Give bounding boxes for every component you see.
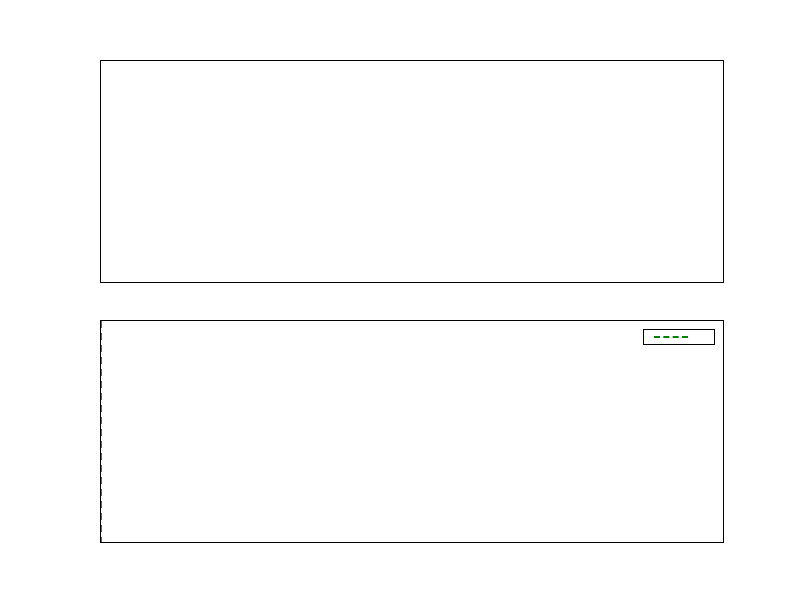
mag-limit-legend-swatch <box>654 336 688 338</box>
legend[interactable] <box>643 329 715 345</box>
top-axes-differential-histogram <box>100 60 724 283</box>
bottom-axes-cumulative-histogram <box>100 320 724 543</box>
cumulative-curve-svg <box>101 321 723 542</box>
bottom-plot-area <box>101 321 723 542</box>
matplotlib-figure <box>0 0 800 600</box>
top-plot-area <box>101 61 723 282</box>
